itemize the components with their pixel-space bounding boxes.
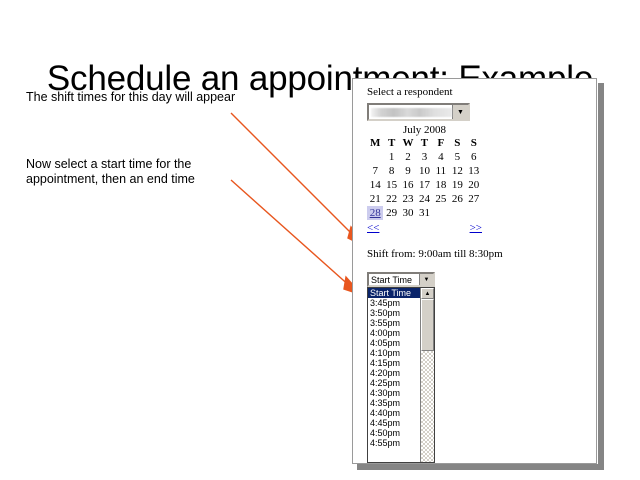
list-item[interactable]: 4:40pm <box>368 408 420 418</box>
calendar-day[interactable]: 15 <box>383 178 399 192</box>
calendar-widget: July 2008 M T W T F S S <box>367 124 482 234</box>
callout-select-time: Now select a start time for the appointm… <box>26 157 241 187</box>
calendar-nav: << >> <box>367 222 482 234</box>
calendar-prev-month-link[interactable]: << <box>367 222 379 234</box>
list-item[interactable]: 4:25pm <box>368 378 420 388</box>
panel-shadow-right <box>598 83 604 469</box>
calendar-week-row: 21 22 23 24 25 26 27 <box>367 192 482 206</box>
panel-shadow-bottom <box>357 464 604 470</box>
start-time-combo[interactable]: Start Time ▼ <box>367 272 435 287</box>
calendar-week-row: 7 8 9 10 11 12 13 <box>367 164 482 178</box>
list-item[interactable]: 4:10pm <box>368 348 420 358</box>
list-item[interactable]: 4:30pm <box>368 388 420 398</box>
calendar-week-row: 1 2 3 4 5 6 <box>367 150 482 164</box>
triangle-up-icon[interactable]: ▲ <box>421 288 434 299</box>
list-item[interactable]: 4:35pm <box>368 398 420 408</box>
calendar-day[interactable]: 2 <box>400 150 416 164</box>
calendar-day[interactable]: 13 <box>466 164 482 178</box>
calendar-day[interactable]: 3 <box>416 150 432 164</box>
calendar-grid: M T W T F S S 1 2 3 4 <box>367 137 482 220</box>
weekday-header: S <box>449 137 465 150</box>
weekday-header: M <box>367 137 383 150</box>
list-item[interactable]: 3:50pm <box>368 308 420 318</box>
respondent-label: Select a respondent <box>367 86 582 98</box>
calendar-day[interactable]: 26 <box>449 192 465 206</box>
calendar-day[interactable]: 21 <box>367 192 383 206</box>
calendar-day[interactable]: 16 <box>400 178 416 192</box>
weekday-header: W <box>400 137 416 150</box>
list-item[interactable]: 4:05pm <box>368 338 420 348</box>
calendar-day[interactable]: 11 <box>433 164 449 178</box>
calendar-day[interactable]: 6 <box>466 150 482 164</box>
calendar-day[interactable]: 8 <box>383 164 399 178</box>
arrow-to-calendar <box>231 113 366 247</box>
calendar-day[interactable]: 30 <box>400 206 416 220</box>
calendar-day[interactable]: 23 <box>400 192 416 206</box>
scrollbar-track[interactable] <box>421 351 434 462</box>
calendar-week-row: 14 15 16 17 18 19 20 <box>367 178 482 192</box>
list-item[interactable]: 3:55pm <box>368 318 420 328</box>
list-item[interactable]: 4:15pm <box>368 358 420 368</box>
respondent-value <box>371 108 452 117</box>
calendar-next-month-link[interactable]: >> <box>470 222 482 234</box>
calendar-day <box>433 206 449 220</box>
arrow-to-start-time <box>231 180 362 295</box>
list-item[interactable]: 4:20pm <box>368 368 420 378</box>
calendar-day[interactable]: 20 <box>466 178 482 192</box>
calendar-day[interactable]: 10 <box>416 164 432 178</box>
chevron-down-icon[interactable]: ▼ <box>452 105 468 119</box>
list-item[interactable]: 3:45pm <box>368 298 420 308</box>
chevron-down-icon[interactable]: ▼ <box>419 274 433 285</box>
list-item[interactable]: 4:55pm <box>368 438 420 448</box>
weekday-header: S <box>466 137 482 150</box>
scrollbar-thumb[interactable] <box>421 299 434 351</box>
weekday-header: F <box>433 137 449 150</box>
start-time-option-list: Start Time 3:45pm 3:50pm 3:55pm 4:00pm 4… <box>368 288 420 462</box>
start-time-combo-value: Start Time <box>369 275 419 285</box>
calendar-day[interactable]: 7 <box>367 164 383 178</box>
calendar-day[interactable]: 27 <box>466 192 482 206</box>
calendar-day[interactable]: 17 <box>416 178 432 192</box>
calendar-week-row: 28 29 30 31 <box>367 206 482 220</box>
calendar-day[interactable]: 14 <box>367 178 383 192</box>
calendar-day[interactable]: 4 <box>433 150 449 164</box>
calendar-day[interactable]: 9 <box>400 164 416 178</box>
calendar-day[interactable]: 25 <box>433 192 449 206</box>
list-item[interactable]: Start Time <box>368 288 420 298</box>
weekday-header: T <box>383 137 399 150</box>
calendar-day[interactable]: 29 <box>383 206 399 220</box>
calendar-day[interactable]: 19 <box>449 178 465 192</box>
calendar-body: 1 2 3 4 5 6 7 8 9 10 11 12 13 <box>367 150 482 220</box>
calendar-day-selected[interactable]: 28 <box>367 206 383 220</box>
weekday-header: T <box>416 137 432 150</box>
calendar-day[interactable]: 24 <box>416 192 432 206</box>
app-screenshot-panel: Select a respondent ▼ July 2008 M T W T … <box>352 78 597 464</box>
list-item[interactable]: 4:45pm <box>368 418 420 428</box>
respondent-select[interactable]: ▼ <box>367 103 470 121</box>
calendar-month-label: July 2008 <box>367 124 482 137</box>
calendar-day[interactable]: 22 <box>383 192 399 206</box>
calendar-day <box>367 150 383 164</box>
callout-shift-times: The shift times for this day will appear <box>26 90 241 105</box>
calendar-day <box>466 206 482 220</box>
start-time-listbox[interactable]: Start Time 3:45pm 3:50pm 3:55pm 4:00pm 4… <box>367 287 435 463</box>
calendar-day[interactable]: 31 <box>416 206 432 220</box>
calendar-weekday-header-row: M T W T F S S <box>367 137 482 150</box>
calendar-day[interactable]: 12 <box>449 164 465 178</box>
calendar-day[interactable]: 5 <box>449 150 465 164</box>
listbox-scrollbar[interactable]: ▲ <box>420 288 434 462</box>
calendar-day[interactable]: 18 <box>433 178 449 192</box>
list-item[interactable]: 4:50pm <box>368 428 420 438</box>
list-item[interactable]: 4:00pm <box>368 328 420 338</box>
shift-hours-text: Shift from: 9:00am till 8:30pm <box>367 248 582 260</box>
calendar-day <box>449 206 465 220</box>
calendar-day[interactable]: 1 <box>383 150 399 164</box>
